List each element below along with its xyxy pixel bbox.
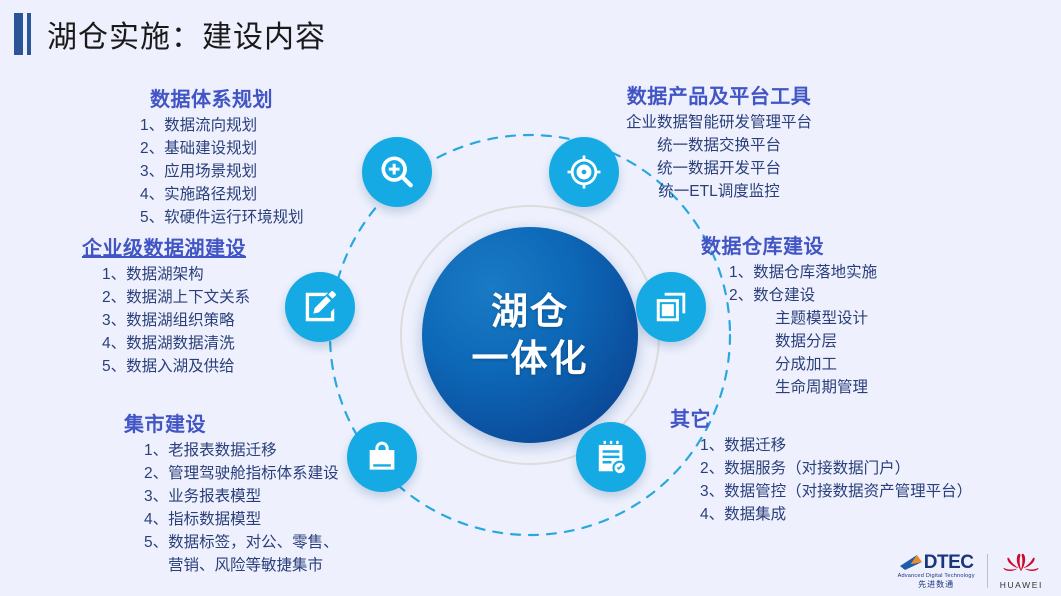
huawei-logo: HUAWEI bbox=[1000, 552, 1043, 590]
list-item-continued: 营销、风险等敏捷集市 bbox=[144, 555, 339, 578]
title-accent-bars bbox=[14, 13, 31, 55]
dtec-logo: DTEC Advanced Digital Technology 先进数通 bbox=[898, 553, 975, 590]
huawei-flower-icon bbox=[1003, 552, 1039, 578]
logo-divider bbox=[987, 554, 988, 588]
list-item: 2、基础建设规划 bbox=[140, 138, 304, 161]
accent-bar-thin bbox=[27, 13, 31, 55]
node-market[interactable] bbox=[347, 422, 417, 492]
list-item: 2、数仓建设 bbox=[729, 285, 877, 308]
list-item: 2、数据湖上下文关系 bbox=[102, 287, 250, 310]
list-item: 3、应用场景规划 bbox=[140, 161, 304, 184]
list-item: 统一ETL调度监控 bbox=[596, 181, 842, 204]
list-item: 统一数据开发平台 bbox=[596, 158, 842, 181]
block-title: 数据仓库建设 bbox=[697, 230, 877, 259]
list-item: 1、数据仓库落地实施 bbox=[729, 262, 877, 285]
block-title: 企业级数据湖建设 bbox=[70, 232, 250, 261]
node-copy[interactable] bbox=[636, 272, 706, 342]
sub-list-item: 分成加工 bbox=[775, 354, 877, 377]
list-item: 4、指标数据模型 bbox=[144, 509, 339, 532]
list-item: 5、软硬件运行环境规划 bbox=[140, 207, 304, 230]
list-item: 1、数据迁移 bbox=[700, 435, 972, 458]
block-title: 其它 bbox=[668, 403, 972, 432]
block-items: 1、数据流向规划 2、基础建设规划 3、应用场景规划 4、实施路径规划 5、软硬… bbox=[108, 115, 304, 230]
list-item: 5、数据标签，对公、零售、 bbox=[144, 532, 339, 555]
zoom-in-icon bbox=[378, 153, 416, 191]
list-item: 企业数据智能研发管理平台 bbox=[596, 112, 842, 135]
list-item: 2、数据服务（对接数据门户） bbox=[700, 458, 972, 481]
edit-square-icon bbox=[301, 288, 339, 326]
huawei-wordmark: HUAWEI bbox=[1000, 580, 1043, 590]
list-item: 3、数据湖组织策略 bbox=[102, 310, 250, 333]
block-items: 1、老报表数据迁移 2、管理驾驶舱指标体系建设 3、业务报表模型 4、指标数据模… bbox=[112, 440, 339, 578]
checklist-notepad-icon bbox=[592, 438, 630, 476]
sub-list-item: 数据分层 bbox=[775, 331, 877, 354]
list-item: 1、老报表数据迁移 bbox=[144, 440, 339, 463]
list-item: 1、数据流向规划 bbox=[140, 115, 304, 138]
sub-list: 主题模型设计 数据分层 分成加工 生命周期管理 bbox=[729, 308, 877, 400]
list-item: 4、实施路径规划 bbox=[140, 184, 304, 207]
block-middle-right: 数据仓库建设 1、数据仓库落地实施 2、数仓建设 主题模型设计 数据分层 分成加… bbox=[697, 230, 877, 400]
dtec-wordmark: DTEC bbox=[924, 553, 974, 572]
list-item: 1、数据湖架构 bbox=[102, 264, 250, 287]
list-item: 3、业务报表模型 bbox=[144, 486, 339, 509]
slide-header: 湖仓实施：建设内容 bbox=[0, 8, 1061, 60]
block-items: 1、数据湖架构 2、数据湖上下文关系 3、数据湖组织策略 4、数据湖数据清洗 5… bbox=[70, 264, 250, 379]
list-item: 3、数据管控（对接数据资产管理平台） bbox=[700, 481, 972, 504]
dtec-tagline: Advanced Digital Technology bbox=[898, 574, 975, 580]
dtec-logo-mark-row: DTEC bbox=[899, 553, 974, 572]
footer-logos: DTEC Advanced Digital Technology 先进数通 HU… bbox=[898, 552, 1043, 590]
copy-layers-icon bbox=[652, 288, 690, 326]
block-bottom-right: 其它 1、数据迁移 2、数据服务（对接数据门户） 3、数据管控（对接数据资产管理… bbox=[668, 403, 972, 527]
block-items: 1、数据仓库落地实施 2、数仓建设 主题模型设计 数据分层 分成加工 生命周期管… bbox=[697, 262, 877, 400]
dtec-chinese-name: 先进数通 bbox=[918, 581, 954, 589]
block-items: 企业数据智能研发管理平台 统一数据交换平台 统一数据开发平台 统一ETL调度监控 bbox=[596, 112, 842, 204]
node-edit[interactable] bbox=[285, 272, 355, 342]
hub-label-line1: 湖仓 bbox=[491, 288, 569, 335]
sub-list-item: 主题模型设计 bbox=[775, 308, 877, 331]
list-item: 统一数据交换平台 bbox=[596, 135, 842, 158]
hub-circle: 湖仓 一体化 bbox=[422, 227, 638, 443]
block-items: 1、数据迁移 2、数据服务（对接数据门户） 3、数据管控（对接数据资产管理平台）… bbox=[668, 435, 972, 527]
node-checklist[interactable] bbox=[576, 422, 646, 492]
shopping-bag-icon bbox=[363, 438, 401, 476]
page-title: 湖仓实施：建设内容 bbox=[47, 12, 326, 56]
sub-list-item: 生命周期管理 bbox=[775, 377, 877, 400]
node-zoom-in[interactable] bbox=[362, 137, 432, 207]
block-title: 集市建设 bbox=[112, 408, 339, 437]
list-item: 2、管理驾驶舱指标体系建设 bbox=[144, 463, 339, 486]
block-title: 数据产品及平台工具 bbox=[596, 80, 842, 109]
block-middle-left: 企业级数据湖建设 1、数据湖架构 2、数据湖上下文关系 3、数据湖组织策略 4、… bbox=[70, 232, 250, 379]
block-bottom-left: 集市建设 1、老报表数据迁移 2、管理驾驶舱指标体系建设 3、业务报表模型 4、… bbox=[112, 408, 339, 578]
accent-bar-thick bbox=[14, 13, 23, 55]
dtec-arrow-icon bbox=[899, 554, 923, 571]
block-top-left: 数据体系规划 1、数据流向规划 2、基础建设规划 3、应用场景规划 4、实施路径… bbox=[108, 83, 304, 230]
list-item: 4、数据湖数据清洗 bbox=[102, 333, 250, 356]
hub-label-line2: 一体化 bbox=[472, 335, 589, 382]
block-title: 数据体系规划 bbox=[108, 83, 304, 112]
list-item: 4、数据集成 bbox=[700, 504, 972, 527]
block-top-right: 数据产品及平台工具 企业数据智能研发管理平台 统一数据交换平台 统一数据开发平台… bbox=[596, 80, 842, 204]
list-item: 5、数据入湖及供给 bbox=[102, 356, 250, 379]
